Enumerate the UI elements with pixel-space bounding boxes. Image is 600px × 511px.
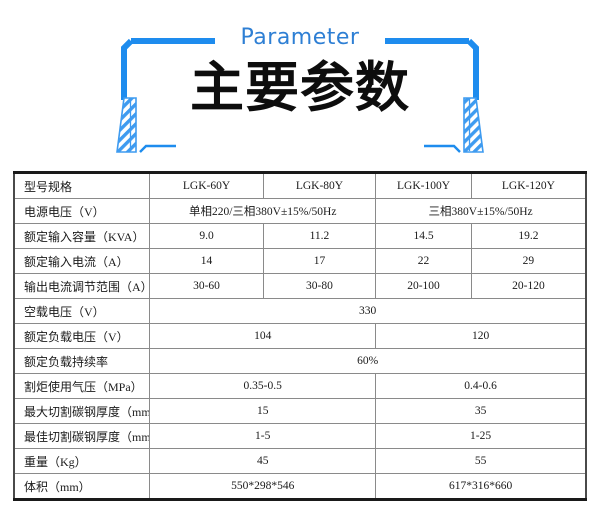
table-row: 电源电压（V）单相220/三相380V±15%/50Hz三相380V±15%/5… [14, 199, 586, 224]
table-cell: 330 [150, 299, 586, 324]
column-header-lgk-120y: LGK-120Y [471, 173, 586, 199]
table-row: 重量（Kg）4555 [14, 449, 586, 474]
row-label: 最佳切割碳钢厚度（mm） [14, 424, 150, 449]
table-cell: 550*298*546 [150, 474, 376, 500]
specifications-table-container: 型号规格LGK-60YLGK-80YLGK-100YLGK-120Y电源电压（V… [13, 171, 587, 501]
table-cell: 22 [376, 249, 472, 274]
table-row: 空载电压（V）330 [14, 299, 586, 324]
table-cell: 15 [150, 399, 376, 424]
table-cell: 30-60 [150, 274, 264, 299]
table-cell: 29 [471, 249, 586, 274]
column-header-spec: 型号规格 [14, 173, 150, 199]
table-row: 额定负载电压（V）104120 [14, 324, 586, 349]
table-cell: 11.2 [263, 224, 375, 249]
table-cell: 17 [263, 249, 375, 274]
table-cell: 0.35-0.5 [150, 374, 376, 399]
table-cell: 35 [376, 399, 586, 424]
table-cell: 0.4-0.6 [376, 374, 586, 399]
table-cell: 60% [150, 349, 586, 374]
row-label: 输出电流调节范围（A） [14, 274, 150, 299]
table-cell: 20-100 [376, 274, 472, 299]
row-label: 重量（Kg） [14, 449, 150, 474]
row-label: 体积（mm） [14, 474, 150, 500]
table-cell: 9.0 [150, 224, 264, 249]
table-cell: 45 [150, 449, 376, 474]
table-row: 最佳切割碳钢厚度（mm）1-51-25 [14, 424, 586, 449]
column-header-lgk-60y: LGK-60Y [150, 173, 264, 199]
table-row: 额定负载持续率60% [14, 349, 586, 374]
table-cell: 617*316*660 [376, 474, 586, 500]
table-row: 最大切割碳钢厚度（mm）1535 [14, 399, 586, 424]
column-header-lgk-100y: LGK-100Y [376, 173, 472, 199]
row-label: 割炬使用气压（MPa） [14, 374, 150, 399]
row-label: 最大切割碳钢厚度（mm） [14, 399, 150, 424]
table-row: 额定输入电流（A）14172229 [14, 249, 586, 274]
table-cell: 1-5 [150, 424, 376, 449]
row-label: 空载电压（V） [14, 299, 150, 324]
table-row: 额定输入容量（KVA）9.011.214.519.2 [14, 224, 586, 249]
table-cell: 30-80 [263, 274, 375, 299]
page-header-banner: Parameter 主要参数 [0, 0, 600, 165]
specifications-table: 型号规格LGK-60YLGK-80YLGK-100YLGK-120Y电源电压（V… [13, 171, 587, 501]
table-body: 型号规格LGK-60YLGK-80YLGK-100YLGK-120Y电源电压（V… [14, 173, 586, 500]
table-cell: 三相380V±15%/50Hz [376, 199, 586, 224]
table-cell: 14.5 [376, 224, 472, 249]
row-label: 额定负载持续率 [14, 349, 150, 374]
table-header-row: 型号规格LGK-60YLGK-80YLGK-100YLGK-120Y [14, 173, 586, 199]
column-header-lgk-80y: LGK-80Y [263, 173, 375, 199]
table-cell: 14 [150, 249, 264, 274]
table-cell: 104 [150, 324, 376, 349]
row-label: 额定负载电压（V） [14, 324, 150, 349]
page-title: 主要参数 [0, 55, 600, 121]
table-cell: 单相220/三相380V±15%/50Hz [150, 199, 376, 224]
table-cell: 19.2 [471, 224, 586, 249]
row-label: 额定输入容量（KVA） [14, 224, 150, 249]
table-row: 体积（mm）550*298*546617*316*660 [14, 474, 586, 500]
table-cell: 55 [376, 449, 586, 474]
table-row: 输出电流调节范围（A）30-6030-8020-10020-120 [14, 274, 586, 299]
row-label: 额定输入电流（A） [14, 249, 150, 274]
table-cell: 1-25 [376, 424, 586, 449]
table-row: 割炬使用气压（MPa）0.35-0.50.4-0.6 [14, 374, 586, 399]
row-label: 电源电压（V） [14, 199, 150, 224]
table-cell: 120 [376, 324, 586, 349]
table-cell: 20-120 [471, 274, 586, 299]
banner-subtitle: Parameter [0, 27, 600, 49]
